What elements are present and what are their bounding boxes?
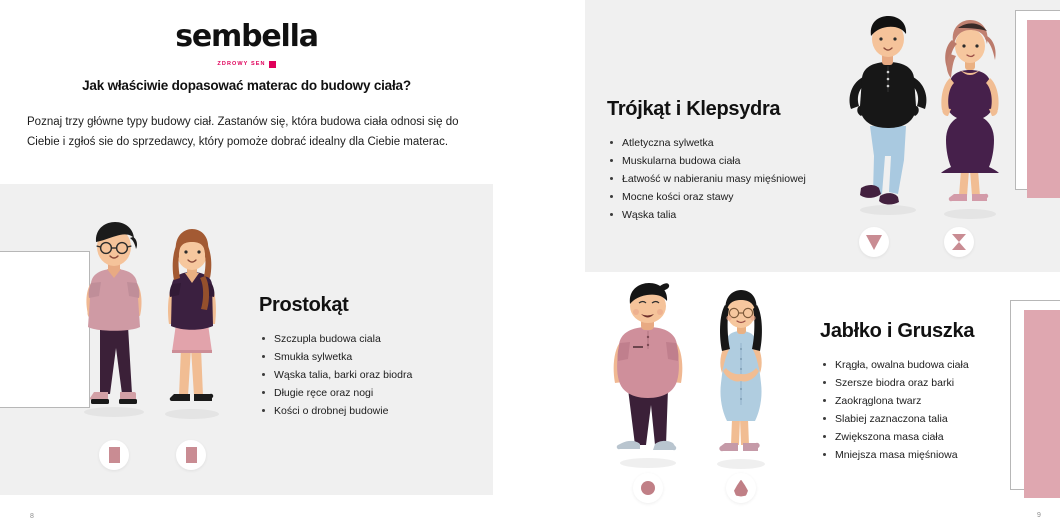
rectangle-icon xyxy=(186,447,197,463)
badge-apple xyxy=(633,473,663,503)
section-title: Prostokąt xyxy=(259,294,474,317)
section-trojkat-klepsydra: Trójkąt i Klepsydra Atletyczna sylwetkaM… xyxy=(607,98,867,224)
rectangle-icon xyxy=(109,447,120,463)
decorative-rectangle-top-right xyxy=(1015,10,1060,190)
brand-logo: sembella ZDROWY SEN xyxy=(0,22,493,70)
section-jablko-gruszka: Jabłko i Gruszka Krągła, owalna budowa c… xyxy=(820,320,1060,464)
bullet-item: Smukła sylwetka xyxy=(259,348,474,366)
bullet-item: Atletyczna sylwetka xyxy=(607,134,867,152)
section-bullet-list: Szczupla budowa cialaSmukła sylwetkaWąsk… xyxy=(259,330,474,420)
bullet-item: Długie ręce oraz nogi xyxy=(259,384,474,402)
trojkat-klepsydra-figures xyxy=(843,16,1013,266)
brand-tagline: ZDROWY SEN xyxy=(217,61,265,67)
pear-teardrop-icon xyxy=(734,480,748,497)
woman-rectangle-figure xyxy=(152,228,232,420)
man-apple-figure xyxy=(603,283,693,468)
badge-pear xyxy=(726,473,756,503)
jablko-gruszka-figures xyxy=(603,283,783,508)
intro-paragraph: Poznaj trzy główne typy budowy ciał. Zas… xyxy=(27,112,487,152)
woman-pear-figure xyxy=(701,289,781,469)
page-number: 8 xyxy=(30,513,34,520)
bullet-item: Mocne kości oraz stawy xyxy=(607,188,867,206)
bullet-item: Łatwość w nabieraniu masy mięśniowej xyxy=(607,170,867,188)
page-number: 9 xyxy=(1037,512,1041,519)
bullet-item: Wąska talia xyxy=(607,206,867,224)
apple-circle-icon xyxy=(641,481,655,495)
page-title: Jak właściwie dopasować materac do budow… xyxy=(0,78,493,93)
brand-tagline-row: ZDROWY SEN xyxy=(217,61,275,68)
section-bullet-list: Atletyczna sylwetkaMuskularna budowa cia… xyxy=(607,134,867,224)
bullet-item: Muskularna budowa ciała xyxy=(607,152,867,170)
section-prostokat: Prostokąt Szczupla budowa cialaSmukła sy… xyxy=(259,294,474,420)
badge-rectangle-woman xyxy=(176,440,206,470)
slide-left: sembella ZDROWY SEN Jak właściwie dopaso… xyxy=(0,0,493,527)
badge-hourglass xyxy=(944,227,974,257)
bullet-item: Kości o drobnej budowie xyxy=(259,402,474,420)
section-title: Trójkąt i Klepsydra xyxy=(607,98,867,121)
bullet-item: Zwiększona masa ciała xyxy=(820,428,1060,446)
badge-rectangle-man xyxy=(99,440,129,470)
section-bullet-list: Krągła, owalna budowa ciałaSzersze biodr… xyxy=(820,356,1060,464)
bullet-item: Mniejsza masa mięśniowa xyxy=(820,446,1060,464)
slide-right: Trójkąt i Klepsydra Atletyczna sylwetkaM… xyxy=(585,0,1060,527)
brand-square-icon xyxy=(269,61,276,68)
bullet-item: Szersze biodra oraz barki xyxy=(820,374,1060,392)
bullet-item: Wąska talia, barki oraz biodra xyxy=(259,366,474,384)
man-rectangle-figure xyxy=(72,222,156,418)
triangle-down-icon xyxy=(866,235,882,250)
prostokat-figures xyxy=(72,222,232,472)
section-title: Jabłko i Gruszka xyxy=(820,320,1060,343)
man-triangle-figure xyxy=(843,16,933,216)
badge-triangle xyxy=(859,227,889,257)
bullet-item: Slabiej zaznaczona talia xyxy=(820,410,1060,428)
brand-name: sembella xyxy=(0,22,493,52)
bullet-item: Szczupla budowa ciala xyxy=(259,330,474,348)
bullet-item: Zaokrąglona twarz xyxy=(820,392,1060,410)
woman-hourglass-figure xyxy=(928,20,1013,220)
hourglass-icon xyxy=(952,234,966,250)
bullet-item: Krągła, owalna budowa ciała xyxy=(820,356,1060,374)
